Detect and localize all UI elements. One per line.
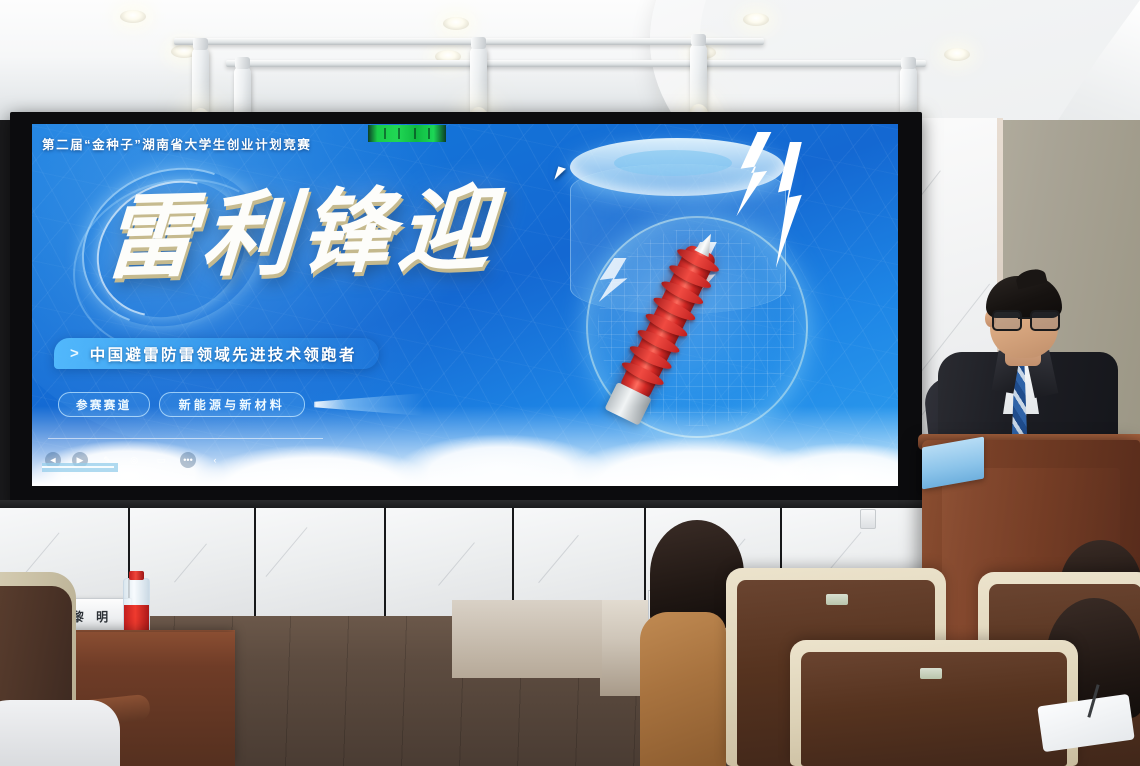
track-spotlight bbox=[192, 47, 209, 121]
lighting-track bbox=[174, 38, 764, 45]
bottle-cap bbox=[129, 571, 144, 580]
green-status-bar bbox=[368, 125, 446, 142]
lighting-track bbox=[226, 60, 926, 67]
judge-person bbox=[0, 700, 120, 766]
screenshot-root: 第二届“金种子”湖南省大学生创业计划竞赛 雷利锋迎 bbox=[0, 0, 1140, 766]
ceiling-downlight bbox=[743, 13, 769, 26]
slide-main-title: 雷利锋迎 bbox=[100, 166, 579, 308]
glasses-icon bbox=[992, 310, 1056, 327]
laser-pointer-button[interactable]: ◎ bbox=[126, 452, 142, 468]
slide-progress-bar[interactable] bbox=[42, 463, 118, 472]
nameplate-text: 黎 明 bbox=[72, 608, 112, 625]
cloud-decor bbox=[32, 406, 898, 486]
wall-switch-plate[interactable] bbox=[860, 509, 876, 529]
ceiling-downlight bbox=[120, 10, 146, 23]
presentation-slide[interactable]: 第二届“金种子”湖南省大学生创业计划竞赛 雷利锋迎 bbox=[32, 124, 898, 486]
slide-subtitle-banner: > 中国避雷防雷领域先进技术领跑者 bbox=[54, 338, 379, 369]
slide-subtitle-text: 中国避雷防雷领域先进技术领跑者 bbox=[90, 343, 357, 365]
audience-coat bbox=[640, 612, 726, 766]
track-spotlight bbox=[470, 46, 487, 120]
slide-header-text: 第二届“金种子”湖南省大学生创业计划竞赛 bbox=[42, 134, 312, 153]
ceiling-downlight bbox=[443, 17, 469, 30]
ceiling-downlight bbox=[944, 48, 970, 61]
toolbar-divider bbox=[48, 438, 323, 439]
audience-seat bbox=[790, 640, 1078, 766]
wall-panel bbox=[256, 508, 386, 616]
more-options-button[interactable]: ••• bbox=[180, 452, 196, 468]
collapse-button[interactable]: ‹ bbox=[207, 452, 223, 468]
stage-skirt bbox=[452, 600, 602, 678]
chevron-right-icon: > bbox=[70, 345, 79, 362]
track-spotlight bbox=[690, 43, 707, 117]
bottle-label bbox=[124, 605, 149, 631]
presentation-control-bar[interactable]: ◄ ▶ ✎ ◎ ▭ ••• ‹ bbox=[38, 449, 230, 471]
video-button[interactable]: ▭ bbox=[153, 452, 169, 468]
